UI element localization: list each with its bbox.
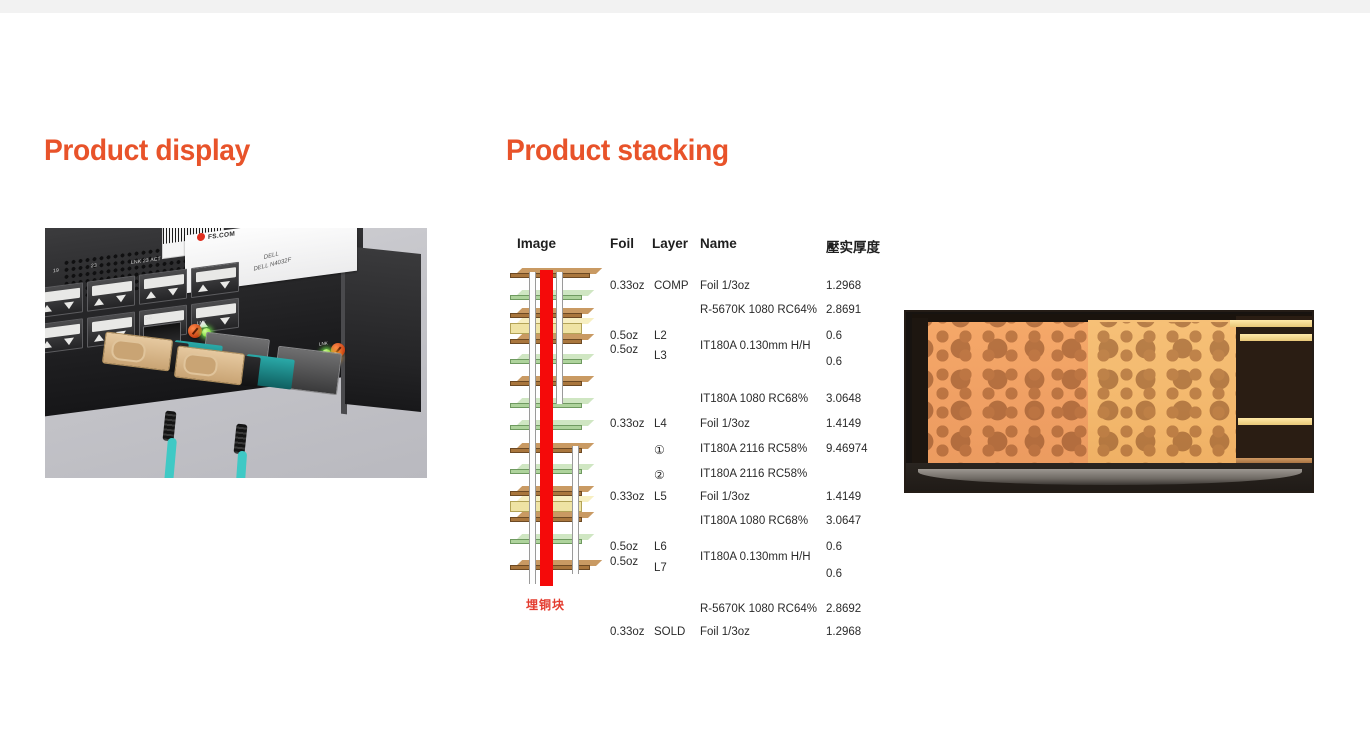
cell-layer: L3 (654, 350, 667, 362)
plated-via-center (556, 272, 563, 404)
cell-thickness: 1.2968 (826, 626, 861, 638)
fiber-cable (236, 451, 247, 478)
column-header-layer: Layer (652, 236, 688, 251)
sfp-port[interactable] (45, 318, 83, 354)
switch-right-face (345, 246, 421, 412)
cell-thickness: 0.6 (826, 356, 842, 368)
cell-foil: 0.33oz (610, 491, 645, 503)
cell-layer: L2 (654, 330, 667, 342)
copper-grain-texture (928, 322, 1236, 480)
cell-name: Foil 1/3oz (700, 418, 750, 430)
copper-trace (1230, 320, 1314, 327)
sfp-port[interactable] (191, 262, 239, 298)
cell-thickness: 2.8692 (826, 603, 861, 615)
fs-logo-mark (197, 232, 205, 241)
sfp-port[interactable] (139, 269, 187, 305)
cell-foil: 0.33oz (610, 418, 645, 430)
stackup-table: Image Foil Layer Name 壓实厚度 埋铜块 0.33oz CO… (506, 236, 906, 626)
page-title-product-display: Product display (44, 134, 250, 168)
plated-via-left (529, 272, 536, 584)
copper-trace (1240, 334, 1314, 341)
cell-thickness: 3.0648 (826, 393, 861, 405)
cell-layer: COMP (654, 280, 689, 292)
cell-foil: 0.5oz (610, 344, 638, 356)
cell-layer: L7 (654, 562, 667, 574)
cell-layer: SOLD (654, 626, 685, 638)
column-header-thickness: 壓实厚度 (826, 236, 880, 256)
stackup-diagram (510, 268, 602, 588)
cell-name: R-5670K 1080 RC64% (700, 603, 817, 615)
port-label-19: 19 (53, 268, 59, 275)
cell-thickness: 2.8691 (826, 304, 861, 316)
cell-foil: 0.5oz (610, 556, 638, 568)
cell-name: IT180A 2116 RC58% (700, 468, 807, 480)
micro-section-photo (904, 310, 1314, 493)
cell-thickness: 1.4149 (826, 418, 861, 430)
cell-thickness: 1.2968 (826, 280, 861, 292)
cell-name: IT180A 0.130mm H/H (700, 340, 811, 352)
cell-thickness: 9.46974 (826, 443, 868, 455)
sfp-port[interactable] (45, 282, 83, 318)
cell-layer: L4 (654, 418, 667, 430)
cell-thickness: 1.4149 (826, 491, 861, 503)
cell-foil: 0.5oz (610, 541, 638, 553)
cell-thickness: 0.6 (826, 541, 842, 553)
cell-layer: L5 (654, 491, 667, 503)
stackup-header-row: Image Foil Layer Name 壓实厚度 (506, 236, 906, 262)
column-header-name: Name (700, 236, 737, 251)
column-header-image: Image (517, 236, 556, 251)
cell-layer: ② (654, 468, 665, 482)
cell-foil: 0.5oz (610, 330, 638, 342)
dielectric-region (1236, 316, 1314, 482)
product-display-photo: FS.COM DELL DELL N4032F 19 23 LNK 23 ACT… (45, 228, 427, 478)
cell-foil: 0.33oz (610, 626, 645, 638)
cell-name: IT180A 2116 RC58% (700, 443, 807, 455)
column-header-foil: Foil (610, 236, 634, 251)
cell-thickness: 0.6 (826, 330, 842, 342)
cell-layer: ① (654, 443, 665, 457)
cell-name: IT180A 1080 RC68% (700, 393, 808, 405)
cell-thickness: 0.6 (826, 568, 842, 580)
top-band (0, 0, 1370, 13)
cell-layer: L6 (654, 541, 667, 553)
cell-name: Foil 1/3oz (700, 626, 750, 638)
cell-foil: 0.33oz (610, 280, 645, 292)
plated-via-right (572, 446, 579, 574)
embedded-copper-block (540, 270, 553, 586)
cell-name: R-5670K 1080 RC64% (700, 304, 817, 316)
cell-thickness: 3.0647 (826, 515, 861, 527)
usb-icon: ⚯ (145, 314, 152, 324)
cell-name: IT180A 1080 RC68% (700, 515, 808, 527)
port-label-23: 23 (91, 263, 97, 270)
copper-trace (1238, 418, 1314, 425)
section-left-edge (912, 318, 928, 482)
page-title-product-stacking: Product stacking (506, 134, 729, 168)
cell-name: Foil 1/3oz (700, 280, 750, 292)
sfp-port[interactable] (87, 275, 135, 311)
cell-name: IT180A 0.130mm H/H (700, 551, 811, 563)
embedded-block-label: 埋铜块 (526, 596, 565, 613)
cell-name: Foil 1/3oz (700, 491, 750, 503)
